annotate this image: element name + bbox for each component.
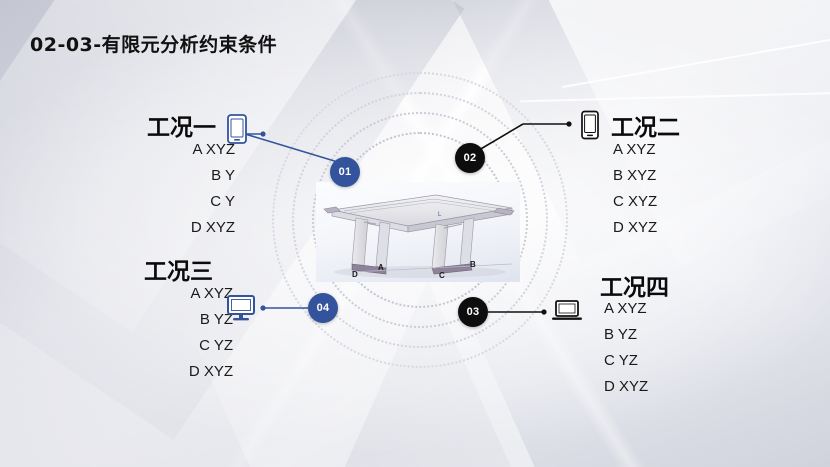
badge-02[interactable]: 02 [455,143,485,173]
list-item: A XYZ [613,137,793,163]
cad-label-b: B [470,260,476,269]
quadrant-04-list: A XYZ B YZ C YZ D XYZ [58,281,233,385]
bg-streak-2 [562,34,830,88]
list-item: B Y [60,163,235,189]
badge-04[interactable]: 04 [308,293,338,323]
list-item: B YZ [58,307,233,333]
list-item: A XYZ [60,137,235,163]
list-item: D XYZ [613,215,793,241]
list-item: C XYZ [613,189,793,215]
cad-model-image: L A B C D [316,182,520,282]
list-item: A XYZ [604,296,784,322]
page-title: 02-03-有限元分析约束条件 [30,30,277,57]
quadrant-01-list: A XYZ B Y C Y D XYZ [60,137,235,241]
list-item: D XYZ [604,374,784,400]
list-item: B XYZ [613,163,793,189]
cad-label-d: D [352,270,358,279]
slide-canvas: 02-03-有限元分析约束条件 [0,0,830,467]
list-item: D XYZ [60,215,235,241]
smartphone-icon[interactable] [226,113,248,150]
list-item: B YZ [604,322,784,348]
cad-label-a: A [378,263,384,272]
list-item: D XYZ [58,359,233,385]
laptop-icon[interactable] [551,299,583,328]
monitor-icon[interactable] [226,294,256,327]
cad-label-c: C [439,271,445,280]
list-item: C YZ [604,348,784,374]
badge-01[interactable]: 01 [330,157,360,187]
bg-streak-1 [520,92,830,103]
quadrant-02-list: A XYZ B XYZ C XYZ D XYZ [613,137,793,241]
list-item: C YZ [58,333,233,359]
quadrant-03-list: A XYZ B YZ C YZ D XYZ [604,296,784,400]
list-item: C Y [60,189,235,215]
smartphone-icon[interactable] [580,110,600,145]
badge-03[interactable]: 03 [458,297,488,327]
list-item: A XYZ [58,281,233,307]
